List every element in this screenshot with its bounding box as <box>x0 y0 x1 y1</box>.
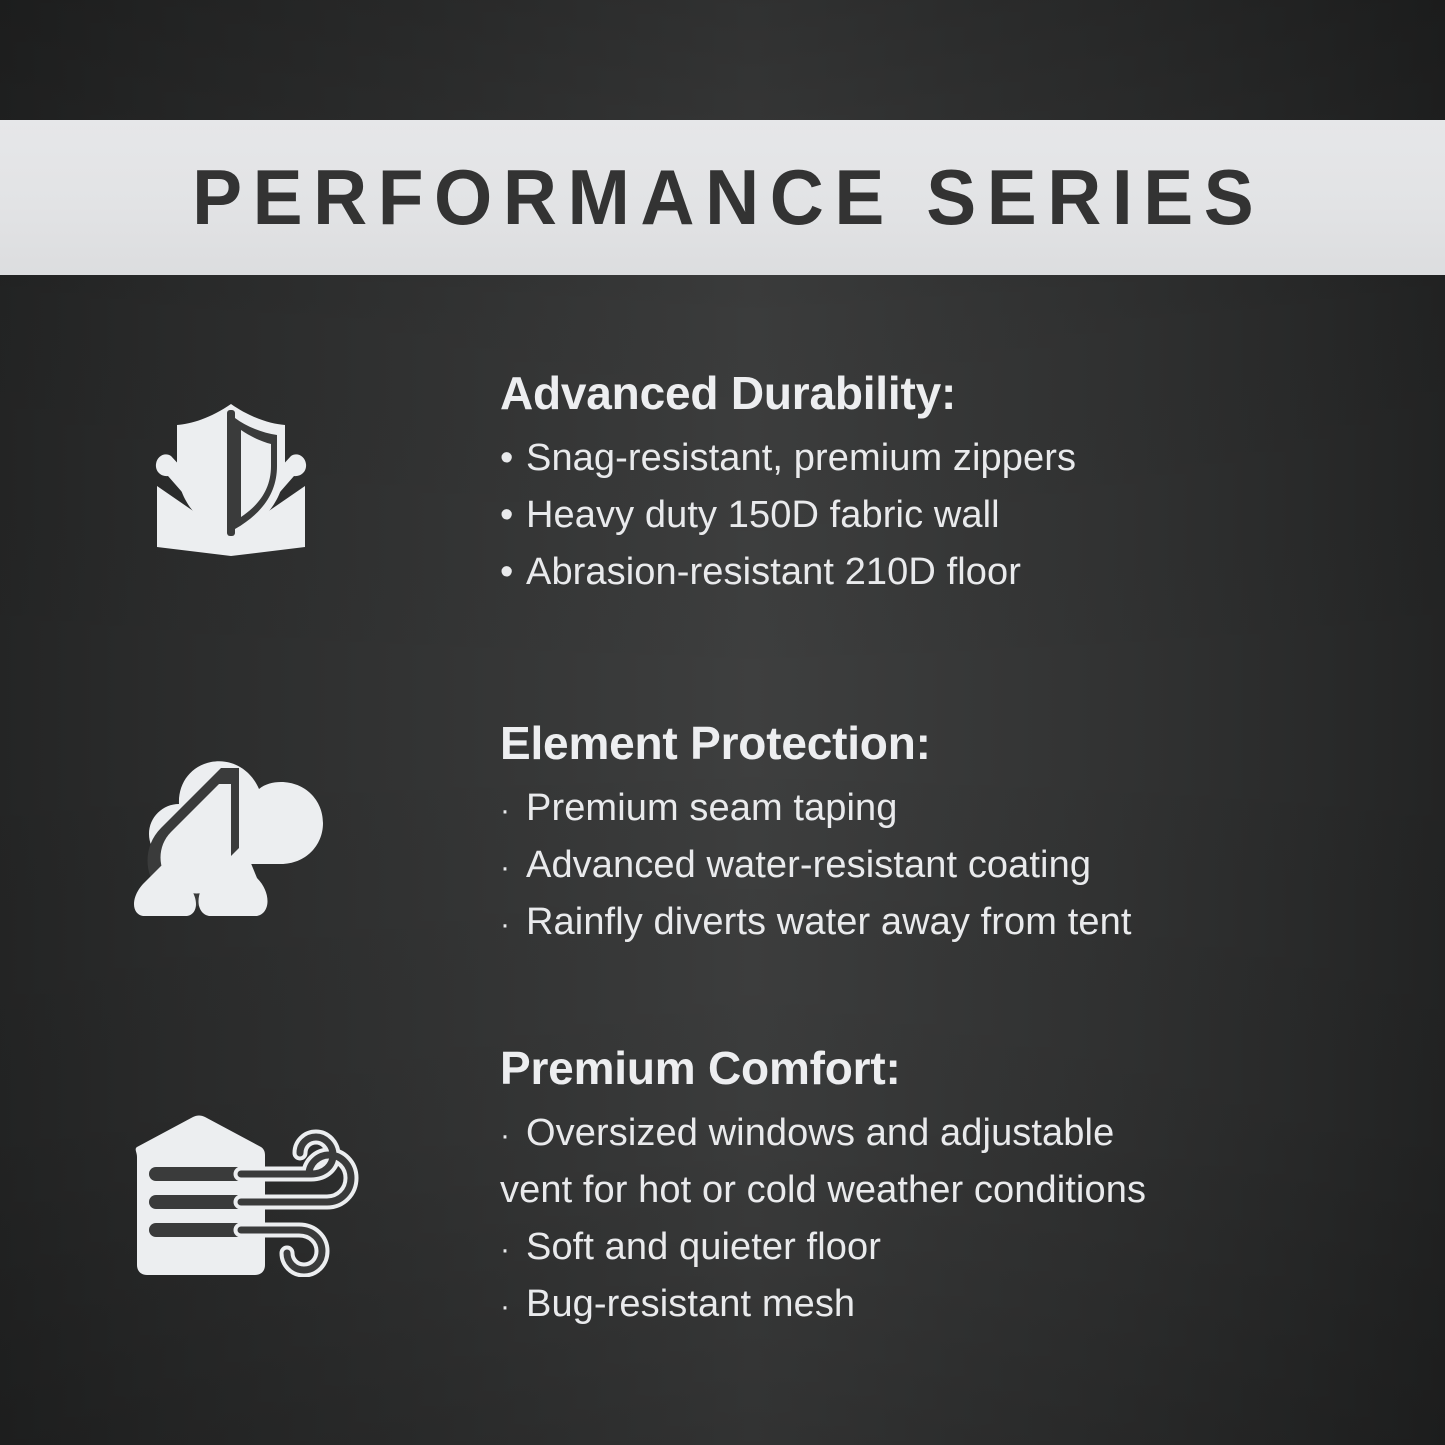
bullet-marker: • <box>500 544 526 601</box>
list-item: ·Bug-resistant mesh <box>500 1276 1445 1333</box>
rain-cloud-icon <box>133 758 329 916</box>
tent-wind-icon <box>123 1115 359 1277</box>
bullet-text: Abrasion-resistant 210D floor <box>526 551 1021 593</box>
list-item: ·Oversized windows and adjustable vent f… <box>500 1105 1445 1219</box>
bullet-marker: · <box>500 902 526 947</box>
bullet-text: Snag-resistant, premium zippers <box>526 437 1076 479</box>
feature-text-container: Advanced Durability: •Snag-resistant, pr… <box>500 370 1445 601</box>
page-title: PERFORMANCE SERIES <box>181 152 1264 243</box>
bullet-text: Oversized windows and adjustable vent fo… <box>500 1112 1146 1211</box>
feature-title: Premium Comfort: <box>500 1045 1445 1093</box>
bullet-marker: • <box>500 487 526 544</box>
feature-row-durability: Advanced Durability: •Snag-resistant, pr… <box>0 370 1445 670</box>
list-item: ·Premium seam taping <box>500 780 1445 837</box>
bullet-text: Bug-resistant mesh <box>526 1283 855 1325</box>
list-item: ·Advanced water-resistant coating <box>500 837 1445 894</box>
infographic-page: PERFORMANCE SERIES <box>0 0 1445 1445</box>
bullet-text: Advanced water-resistant coating <box>526 844 1091 886</box>
bullet-marker: · <box>500 1284 526 1329</box>
bullet-marker: · <box>500 788 526 833</box>
feature-row-premium-comfort: Premium Comfort: ·Oversized windows and … <box>0 1045 1445 1385</box>
list-item: ·Soft and quieter floor <box>500 1219 1445 1276</box>
bullet-text: Soft and quieter floor <box>526 1226 881 1268</box>
list-item: •Heavy duty 150D fabric wall <box>500 487 1445 544</box>
feature-text-container: Premium Comfort: ·Oversized windows and … <box>500 1045 1445 1333</box>
bullet-text: Premium seam taping <box>526 787 898 829</box>
list-item: ·Rainfly diverts water away from tent <box>500 894 1445 951</box>
bullet-list: •Snag-resistant, premium zippers •Heavy … <box>500 430 1445 601</box>
feature-text-container: Element Protection: ·Premium seam taping… <box>500 720 1445 951</box>
feature-row-element-protection: Element Protection: ·Premium seam taping… <box>0 720 1445 1020</box>
bullet-text: Heavy duty 150D fabric wall <box>526 494 1000 536</box>
feature-title: Advanced Durability: <box>500 370 1445 418</box>
feature-icon-container <box>0 720 500 916</box>
bullet-marker: • <box>500 430 526 487</box>
shield-burst-icon <box>151 404 311 556</box>
bullet-marker: · <box>500 1227 526 1272</box>
list-item: •Snag-resistant, premium zippers <box>500 430 1445 487</box>
feature-list: Advanced Durability: •Snag-resistant, pr… <box>0 275 1445 1445</box>
bullet-text: Rainfly diverts water away from tent <box>526 901 1131 943</box>
feature-icon-container <box>0 1045 500 1277</box>
bullet-list: ·Oversized windows and adjustable vent f… <box>500 1105 1445 1333</box>
bullet-marker: · <box>500 1113 526 1158</box>
feature-icon-container <box>0 370 500 556</box>
list-item: •Abrasion-resistant 210D floor <box>500 544 1445 601</box>
bullet-list: ·Premium seam taping ·Advanced water-res… <box>500 780 1445 951</box>
bullet-marker: · <box>500 845 526 890</box>
feature-title: Element Protection: <box>500 720 1445 768</box>
title-band: PERFORMANCE SERIES <box>0 120 1445 275</box>
